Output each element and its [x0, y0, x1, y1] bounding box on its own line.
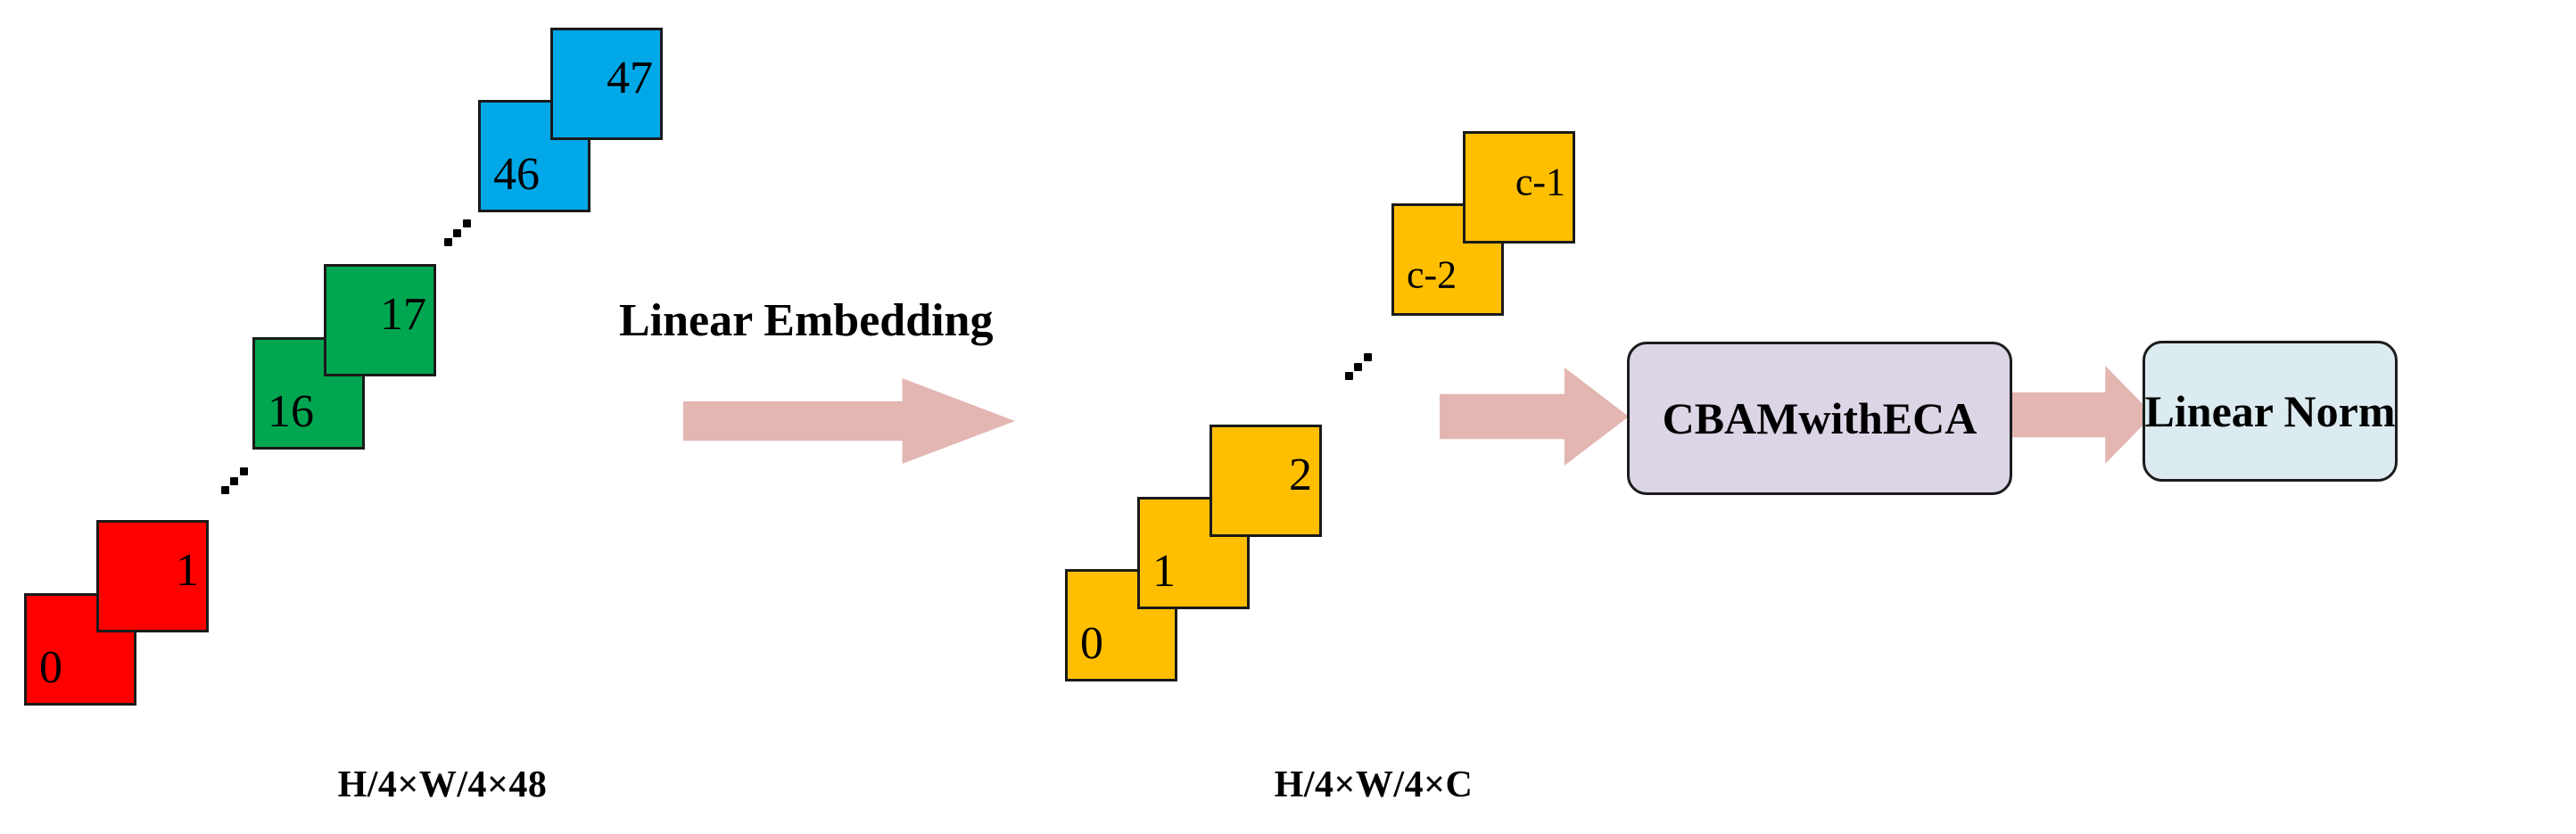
ellipsis-dot [1345, 372, 1353, 380]
patch-tile-label: 2 [1289, 452, 1312, 499]
patch-tile-label: 46 [493, 152, 540, 198]
module-box-cbam-with-eca[interactable]: CBAMwithECA [1627, 342, 2012, 495]
output-stack-caption: H/4×W/4×C [1275, 764, 1474, 806]
ellipsis-dot [1364, 353, 1372, 361]
patch-tile-label: 0 [39, 645, 62, 691]
input-stack-ellipsis-2 [444, 219, 471, 246]
patch-tile-label: c-2 [1407, 256, 1457, 295]
input-stack-caption: H/4×W/4×48 [338, 764, 548, 806]
ellipsis-dot [1354, 363, 1362, 371]
module-box-linear-norm[interactable]: Linear Norm [2143, 341, 2398, 482]
patch-tile-label: 17 [380, 292, 426, 338]
patch-tile-47: 47 [550, 28, 663, 140]
ellipsis-dot [453, 229, 461, 237]
linear-embedding-label: Linear Embedding [619, 294, 993, 347]
patch-tile-label: 1 [176, 548, 199, 594]
patch-tile-label: c-1 [1515, 163, 1565, 202]
arrow-to-linear-norm [2012, 366, 2153, 464]
input-stack-ellipsis-1 [221, 467, 248, 494]
output-stack-ellipsis-1 [1345, 353, 1372, 380]
module-box-label: Linear Norm [2145, 385, 2396, 437]
ellipsis-dot [463, 219, 471, 227]
ellipsis-dot [230, 477, 238, 485]
patch-tile-label: 16 [268, 389, 314, 435]
ellipsis-dot [444, 238, 452, 246]
arrow-to-cbam [1440, 367, 1629, 466]
ellipsis-dot [221, 486, 229, 494]
patch-tile-2: 2 [1210, 425, 1322, 537]
patch-tile-1: 1 [96, 520, 209, 632]
patch-tile-c-1: c-1 [1463, 131, 1575, 244]
diagram-canvas: 0116174647012c-2c-1Linear EmbeddingCBAMw… [0, 0, 2576, 834]
module-box-label: CBAMwithECA [1663, 392, 1977, 444]
patch-tile-label: 0 [1080, 621, 1103, 667]
linear-embedding-arrow [683, 378, 1015, 464]
patch-tile-17: 17 [324, 264, 436, 376]
patch-tile-label: 1 [1152, 549, 1176, 595]
ellipsis-dot [240, 467, 248, 475]
patch-tile-label: 47 [607, 55, 653, 102]
